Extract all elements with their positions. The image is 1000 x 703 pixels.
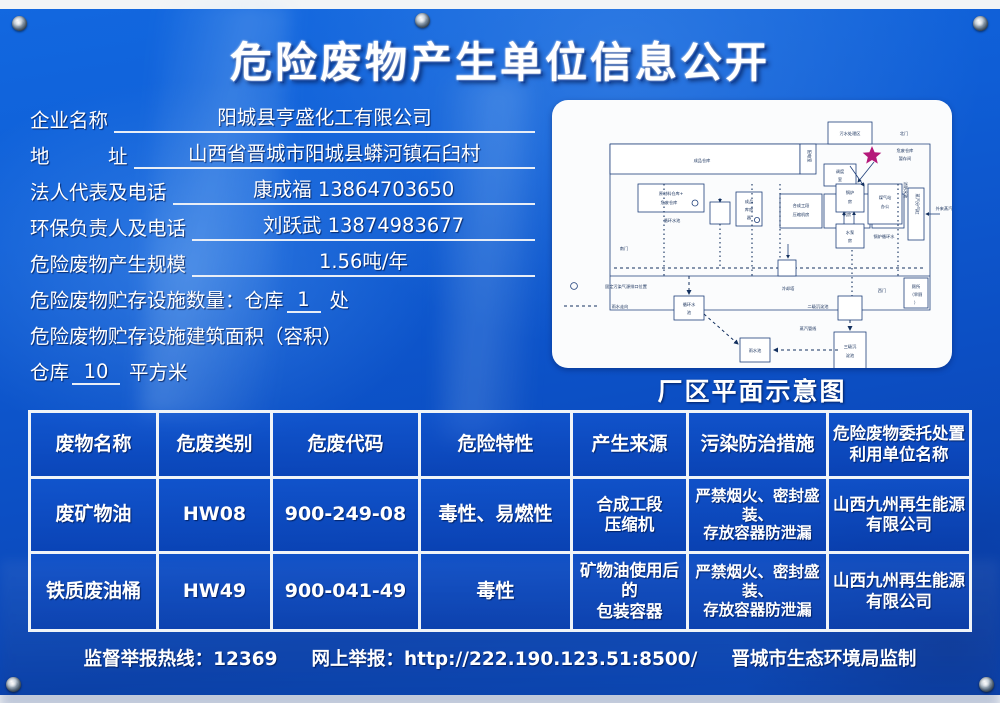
diagram-caption: 厂区平面示意图 (552, 372, 952, 408)
info-unit: 平方米 (123, 356, 188, 385)
info-row-storage-count: 危险废物贮存设施数量：仓库 1 处 (30, 277, 535, 313)
screw-icon-bottom-right (979, 677, 994, 692)
svg-text:房: 房 (848, 237, 852, 244)
svg-text:危废仓库: 危废仓库 (897, 147, 914, 154)
cell-entrusted-unit: 山西九州再生能源 有限公司 (829, 554, 969, 629)
svg-text:厕所: 厕所 (912, 283, 920, 290)
cell-source: 合成工段 压缩机 (573, 479, 689, 554)
cell-waste-code: 900-041-49 (273, 554, 421, 629)
svg-text:压缩机房: 压缩机房 (793, 211, 810, 218)
svg-text:锅炉循环水: 锅炉循环水 (874, 233, 896, 240)
info-value: 1.56吨/年 (192, 245, 535, 277)
info-row-env-officer: 环保负责人及电话 刘跃武 13874983677 (30, 205, 535, 241)
table-header-cell: 产生来源 (573, 413, 689, 479)
svg-text:三级沉: 三级沉 (844, 343, 857, 350)
svg-text:蒸汽管线: 蒸汽管线 (800, 325, 818, 332)
cell-waste-category: HW49 (159, 554, 273, 629)
cell-waste-name: 铁质废油桶 (31, 554, 159, 629)
svg-text:成品仓库: 成品仓库 (694, 157, 711, 164)
info-label: 地 址 (30, 140, 128, 169)
cell-waste-category: HW08 (159, 479, 273, 554)
svg-text:蒸汽分气缸: 蒸汽分气缸 (914, 194, 921, 216)
cell-hazard-property: 毒性、易燃性 (421, 479, 573, 554)
information-board: 危险废物产生单位信息公开 企业名称 阳城县亨盛化工有限公司 地 址 山西省晋城市… (0, 0, 1000, 703)
table-header-cell: 危废类别 (159, 413, 273, 479)
svg-text:煤气站: 煤气站 (879, 194, 892, 201)
info-label: 企业名称 (30, 104, 108, 133)
table-row: 废矿物油 HW08 900-249-08 毒性、易燃性 合成工段 压缩机 严禁烟… (31, 479, 969, 554)
svg-text:南门: 南门 (620, 245, 628, 252)
svg-text:外来蒸汽: 外来蒸汽 (936, 205, 952, 212)
table-header-cell: 废物名称 (31, 413, 159, 479)
company-info-block: 企业名称 阳城县亨盛化工有限公司 地 址 山西省晋城市阳城县蟒河镇石臼村 法人代… (30, 97, 535, 385)
info-row-company-name: 企业名称 阳城县亨盛化工有限公司 (30, 97, 535, 133)
svg-text:消防水池: 消防水池 (902, 182, 909, 200)
footer-hotline: 监督举报热线：12369 (84, 645, 278, 671)
cell-entrusted-unit: 山西九州再生能源 有限公司 (829, 479, 969, 554)
footer: 监督举报热线：12369 网上举报：http://222.190.123.51:… (0, 645, 1000, 671)
info-label: 危险废物贮存设施建筑面积（容积） (30, 320, 342, 349)
info-row-legal-rep: 法人代表及电话 康成福 13864703650 (30, 169, 535, 205)
cell-measures: 严禁烟火、密封盛装、 存放容器防泄漏 (689, 479, 829, 554)
info-label: 危险废物贮存设施数量：仓库 (30, 284, 284, 313)
table-header-cell: 危险特性 (421, 413, 573, 479)
info-value: 10 (72, 360, 120, 385)
hazard-waste-marker-star (863, 146, 882, 164)
table-header-row: 废物名称 危废类别 危废代码 危险特性 产生来源 污染防治措施 危险废物委托处置… (31, 413, 969, 479)
svg-text:）: ） (914, 300, 918, 305)
svg-text:水泵: 水泵 (846, 229, 854, 235)
svg-text:暂存间: 暂存间 (899, 155, 912, 162)
svg-text:雨水走向: 雨水走向 (612, 303, 629, 310)
svg-text:锅炉: 锅炉 (846, 189, 854, 196)
board-top-edge (0, 0, 1000, 9)
svg-text:危废仓库: 危废仓库 (661, 199, 678, 206)
svg-text:循环水池: 循环水池 (664, 217, 682, 224)
plant-layout-svg: 成品仓库 配电室 污水处理区 北门 危废仓库 暂存间 调度 室 原材料仓库+ 危… (552, 100, 952, 368)
plant-layout-diagram: 成品仓库 配电室 污水处理区 北门 危废仓库 暂存间 调度 室 原材料仓库+ 危… (552, 100, 952, 368)
table-header-cell: 危险废物委托处置 利用单位名称 (829, 413, 969, 479)
svg-text:原材料仓库+: 原材料仓库+ (659, 190, 684, 197)
footer-authority: 晋城市生态环境局监制 (731, 645, 916, 671)
info-row-storage-area-label: 危险废物贮存设施建筑面积（容积） (30, 313, 535, 349)
info-row-address: 地 址 山西省晋城市阳城县蟒河镇石臼村 (30, 133, 535, 169)
info-value: 1 (287, 288, 321, 313)
page-title: 危险废物产生单位信息公开 (0, 29, 1000, 90)
svg-text:成品: 成品 (745, 198, 753, 205)
svg-text:固定污染气源排口位置: 固定污染气源排口位置 (605, 283, 647, 290)
cell-measures: 严禁烟火、密封盛装、 存放容器防泄漏 (689, 554, 829, 629)
table-row: 铁质废油桶 HW49 900-041-49 毒性 矿物油使用后的 包装容器 严禁… (31, 554, 969, 629)
svg-text:办公: 办公 (881, 203, 890, 210)
screw-icon-bottom-left (6, 677, 21, 692)
info-row-generation-scale: 危险废物产生规模 1.56吨/年 (30, 241, 535, 277)
info-label: 环保负责人及电话 (30, 212, 186, 241)
footer-online-report: 网上举报：http://222.190.123.51:8500/ (312, 645, 698, 671)
info-row-storage-area: 仓库 10 平方米 (30, 349, 535, 385)
table-header-cell: 污染防治措施 (689, 413, 829, 479)
svg-text:雨水池: 雨水池 (749, 347, 762, 354)
info-label: 危险废物产生规模 (30, 248, 186, 277)
info-value: 康成福 13864703650 (173, 173, 535, 205)
svg-text:淀池: 淀池 (846, 352, 855, 359)
cell-waste-name: 废矿物油 (31, 479, 159, 554)
info-value: 山西省晋城市阳城县蟒河镇石臼村 (134, 137, 535, 169)
svg-text:调度: 调度 (836, 168, 845, 175)
info-label: 仓库 (30, 356, 69, 385)
table-header-cell: 危废代码 (273, 413, 421, 479)
cell-hazard-property: 毒性 (421, 554, 573, 629)
info-label: 法人代表及电话 (30, 176, 167, 205)
svg-text:房: 房 (848, 198, 852, 205)
info-unit: 处 (324, 284, 350, 313)
svg-text:冷却塔: 冷却塔 (782, 285, 795, 292)
cell-source: 矿物油使用后的 包装容器 (573, 554, 689, 629)
info-value: 刘跃武 13874983677 (192, 209, 535, 241)
hazardous-waste-table: 废物名称 危废类别 危废代码 危险特性 产生来源 污染防治措施 危险废物委托处置… (28, 410, 972, 632)
svg-text:北门: 北门 (900, 130, 908, 137)
svg-text:合成工段: 合成工段 (793, 202, 811, 209)
screw-icon-top-center (415, 13, 430, 28)
svg-text:西门: 西门 (878, 287, 886, 294)
cell-waste-code: 900-249-08 (273, 479, 421, 554)
svg-text:配电室: 配电室 (806, 150, 813, 163)
svg-text:二级沉淀池: 二级沉淀池 (808, 303, 830, 310)
info-value: 阳城县亨盛化工有限公司 (114, 101, 535, 133)
svg-text:污水处理区: 污水处理区 (840, 130, 861, 137)
svg-text:循环水: 循环水 (683, 301, 696, 308)
